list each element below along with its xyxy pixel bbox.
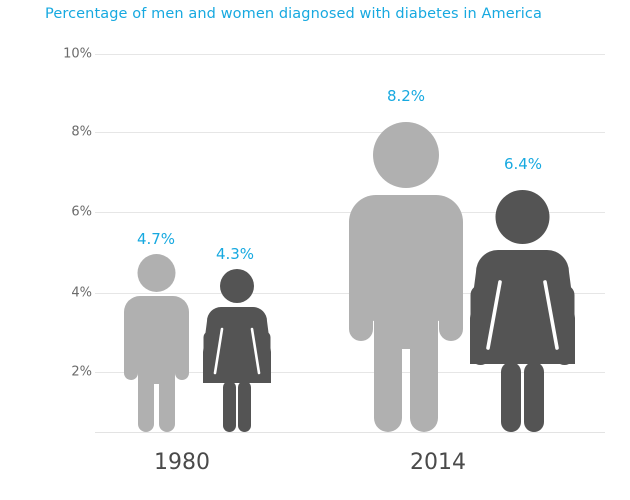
- y-tick-10: 10%: [22, 47, 92, 62]
- value-label-women-1980: 4.3%: [216, 245, 254, 263]
- y-tick-8: 8%: [22, 125, 92, 140]
- gridline-10: [95, 54, 605, 55]
- value-label-men-2014: 8.2%: [387, 87, 425, 105]
- figure-men-1980: [120, 254, 193, 432]
- plot-area: 10% 8% 6% 4% 2%: [0, 0, 630, 460]
- y-tick-4: 4%: [22, 286, 92, 301]
- y-tick-6: 6%: [22, 205, 92, 220]
- pictogram-chart: Percentage of men and women diagnosed wi…: [0, 0, 630, 500]
- x-tick-1980: 1980: [154, 450, 210, 475]
- value-label-women-2014: 6.4%: [504, 155, 542, 173]
- figure-men-2014: [343, 122, 469, 432]
- value-label-men-1980: 4.7%: [137, 230, 175, 248]
- x-tick-2014: 2014: [410, 450, 466, 475]
- figure-women-2014: [470, 190, 575, 432]
- y-tick-2: 2%: [22, 365, 92, 380]
- axis-baseline: [95, 432, 605, 433]
- figure-women-1980: [203, 269, 271, 432]
